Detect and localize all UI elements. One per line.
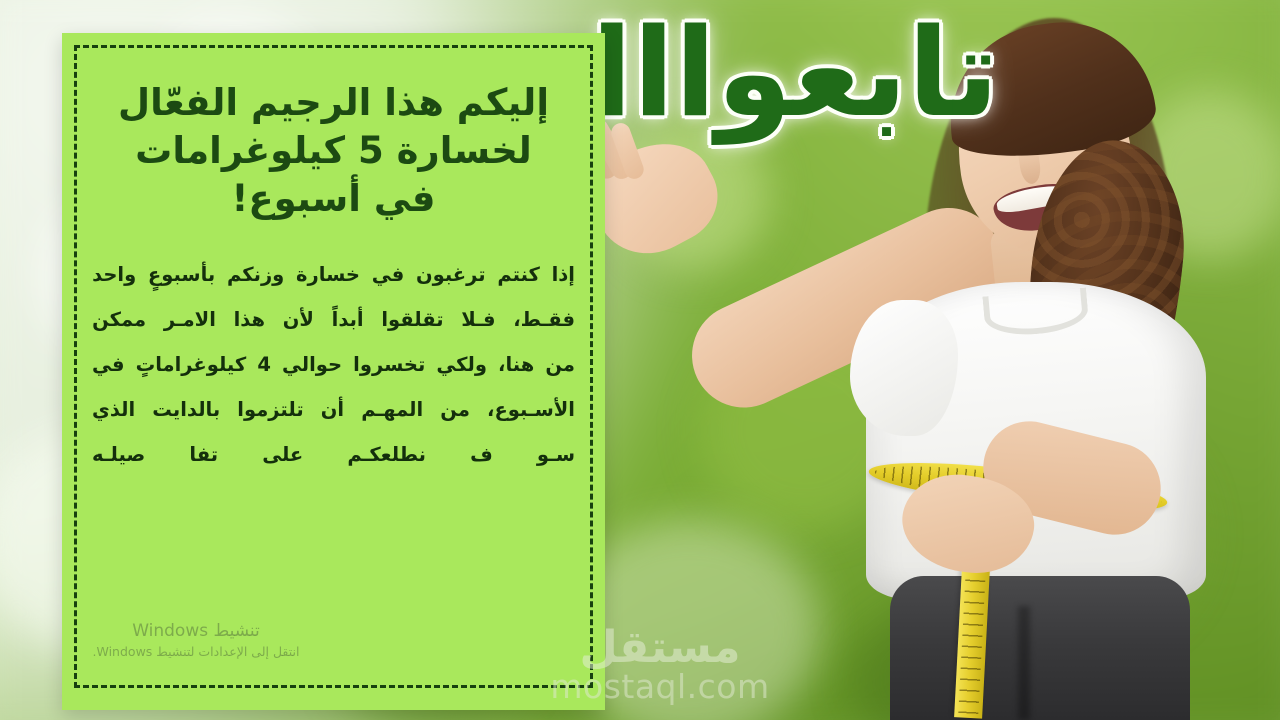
body-word: على: [262, 433, 303, 478]
headline-line-3: في أسبوع!: [92, 175, 575, 223]
body-line: إذاكنتمترغبونفيخسارةوزنكمبأسبوعٍواحد: [92, 253, 575, 298]
thumbnail-canvas: تابعوااا إليكم هذا الرجيم الفعّال لخسارة…: [0, 0, 1280, 720]
body-word: حوالي: [282, 343, 342, 388]
body-line: سـوفنطلعكـمعلىتفاصيلـه: [92, 433, 575, 478]
pants-seam: [1018, 606, 1030, 720]
body-word: وزنكم: [227, 253, 284, 298]
body-word: من: [440, 388, 470, 433]
body-word: واحد: [92, 253, 136, 298]
body-word: الامـر: [164, 298, 216, 343]
body-word: بالدايت: [152, 388, 220, 433]
body-word: تلتزموا: [237, 388, 303, 433]
body-word: كنتم: [497, 253, 540, 298]
grey-pants: [890, 576, 1190, 720]
body-word: كيلوغراماتٍ: [136, 343, 247, 388]
headline-line-2: لخسارة 5 كيلوغرامات: [92, 127, 575, 175]
body-word: تخسروا: [353, 343, 425, 388]
body-paragraph: إذاكنتمترغبونفيخسارةوزنكمبأسبوعٍواحد فقـ…: [92, 253, 575, 477]
body-word: تقلقوا: [381, 298, 443, 343]
body-word: ترغبون: [416, 253, 486, 298]
body-word: إذا: [552, 253, 575, 298]
body-word: صيلـه: [92, 433, 145, 478]
body-word: فـلا: [461, 298, 495, 343]
body-word: الأسـبوع،: [487, 388, 575, 433]
page-title: إليكم هذا الرجيم الفعّال لخسارة 5 كيلوغر…: [92, 79, 575, 223]
body-line: فقـط،فـلاتقلقواأبداًلأنهذاالامـرممكن: [92, 298, 575, 343]
headline-line-1: إليكم هذا الرجيم الفعّال: [92, 79, 575, 127]
body-word: بأسبوعٍ: [148, 253, 215, 298]
body-word: خسارة: [296, 253, 360, 298]
body-word: في: [92, 343, 125, 388]
body-word: ف: [470, 433, 493, 478]
body-word: ممكن: [92, 298, 146, 343]
tshirt-sleeve: [850, 300, 958, 436]
body-word: ولكي: [436, 343, 487, 388]
body-word: سـو: [537, 433, 575, 478]
body-word: نطلعكـم: [347, 433, 426, 478]
body-word: لأن: [283, 298, 314, 343]
body-word: تفا: [189, 433, 218, 478]
body-line: الأسـبوع،منالمهـمأنتلتزموابالدايتالذي: [92, 388, 575, 433]
body-word: أن: [321, 388, 344, 433]
body-word: الذي: [92, 388, 135, 433]
body-word: فقـط،: [513, 298, 575, 343]
body-word: في: [372, 253, 405, 298]
body-line: منهنا،ولكيتخسرواحوالي4كيلوغراماتٍفي: [92, 343, 575, 388]
body-word: هذا: [234, 298, 265, 343]
body-word: 4: [257, 343, 271, 388]
body-word: المهـم: [361, 388, 423, 433]
content-card: إليكم هذا الرجيم الفعّال لخسارة 5 كيلوغر…: [62, 33, 605, 710]
body-word: أبداً: [332, 298, 364, 343]
body-word: من: [545, 343, 575, 388]
woman-photo: [806, 0, 1280, 720]
body-word: هنا،: [498, 343, 534, 388]
